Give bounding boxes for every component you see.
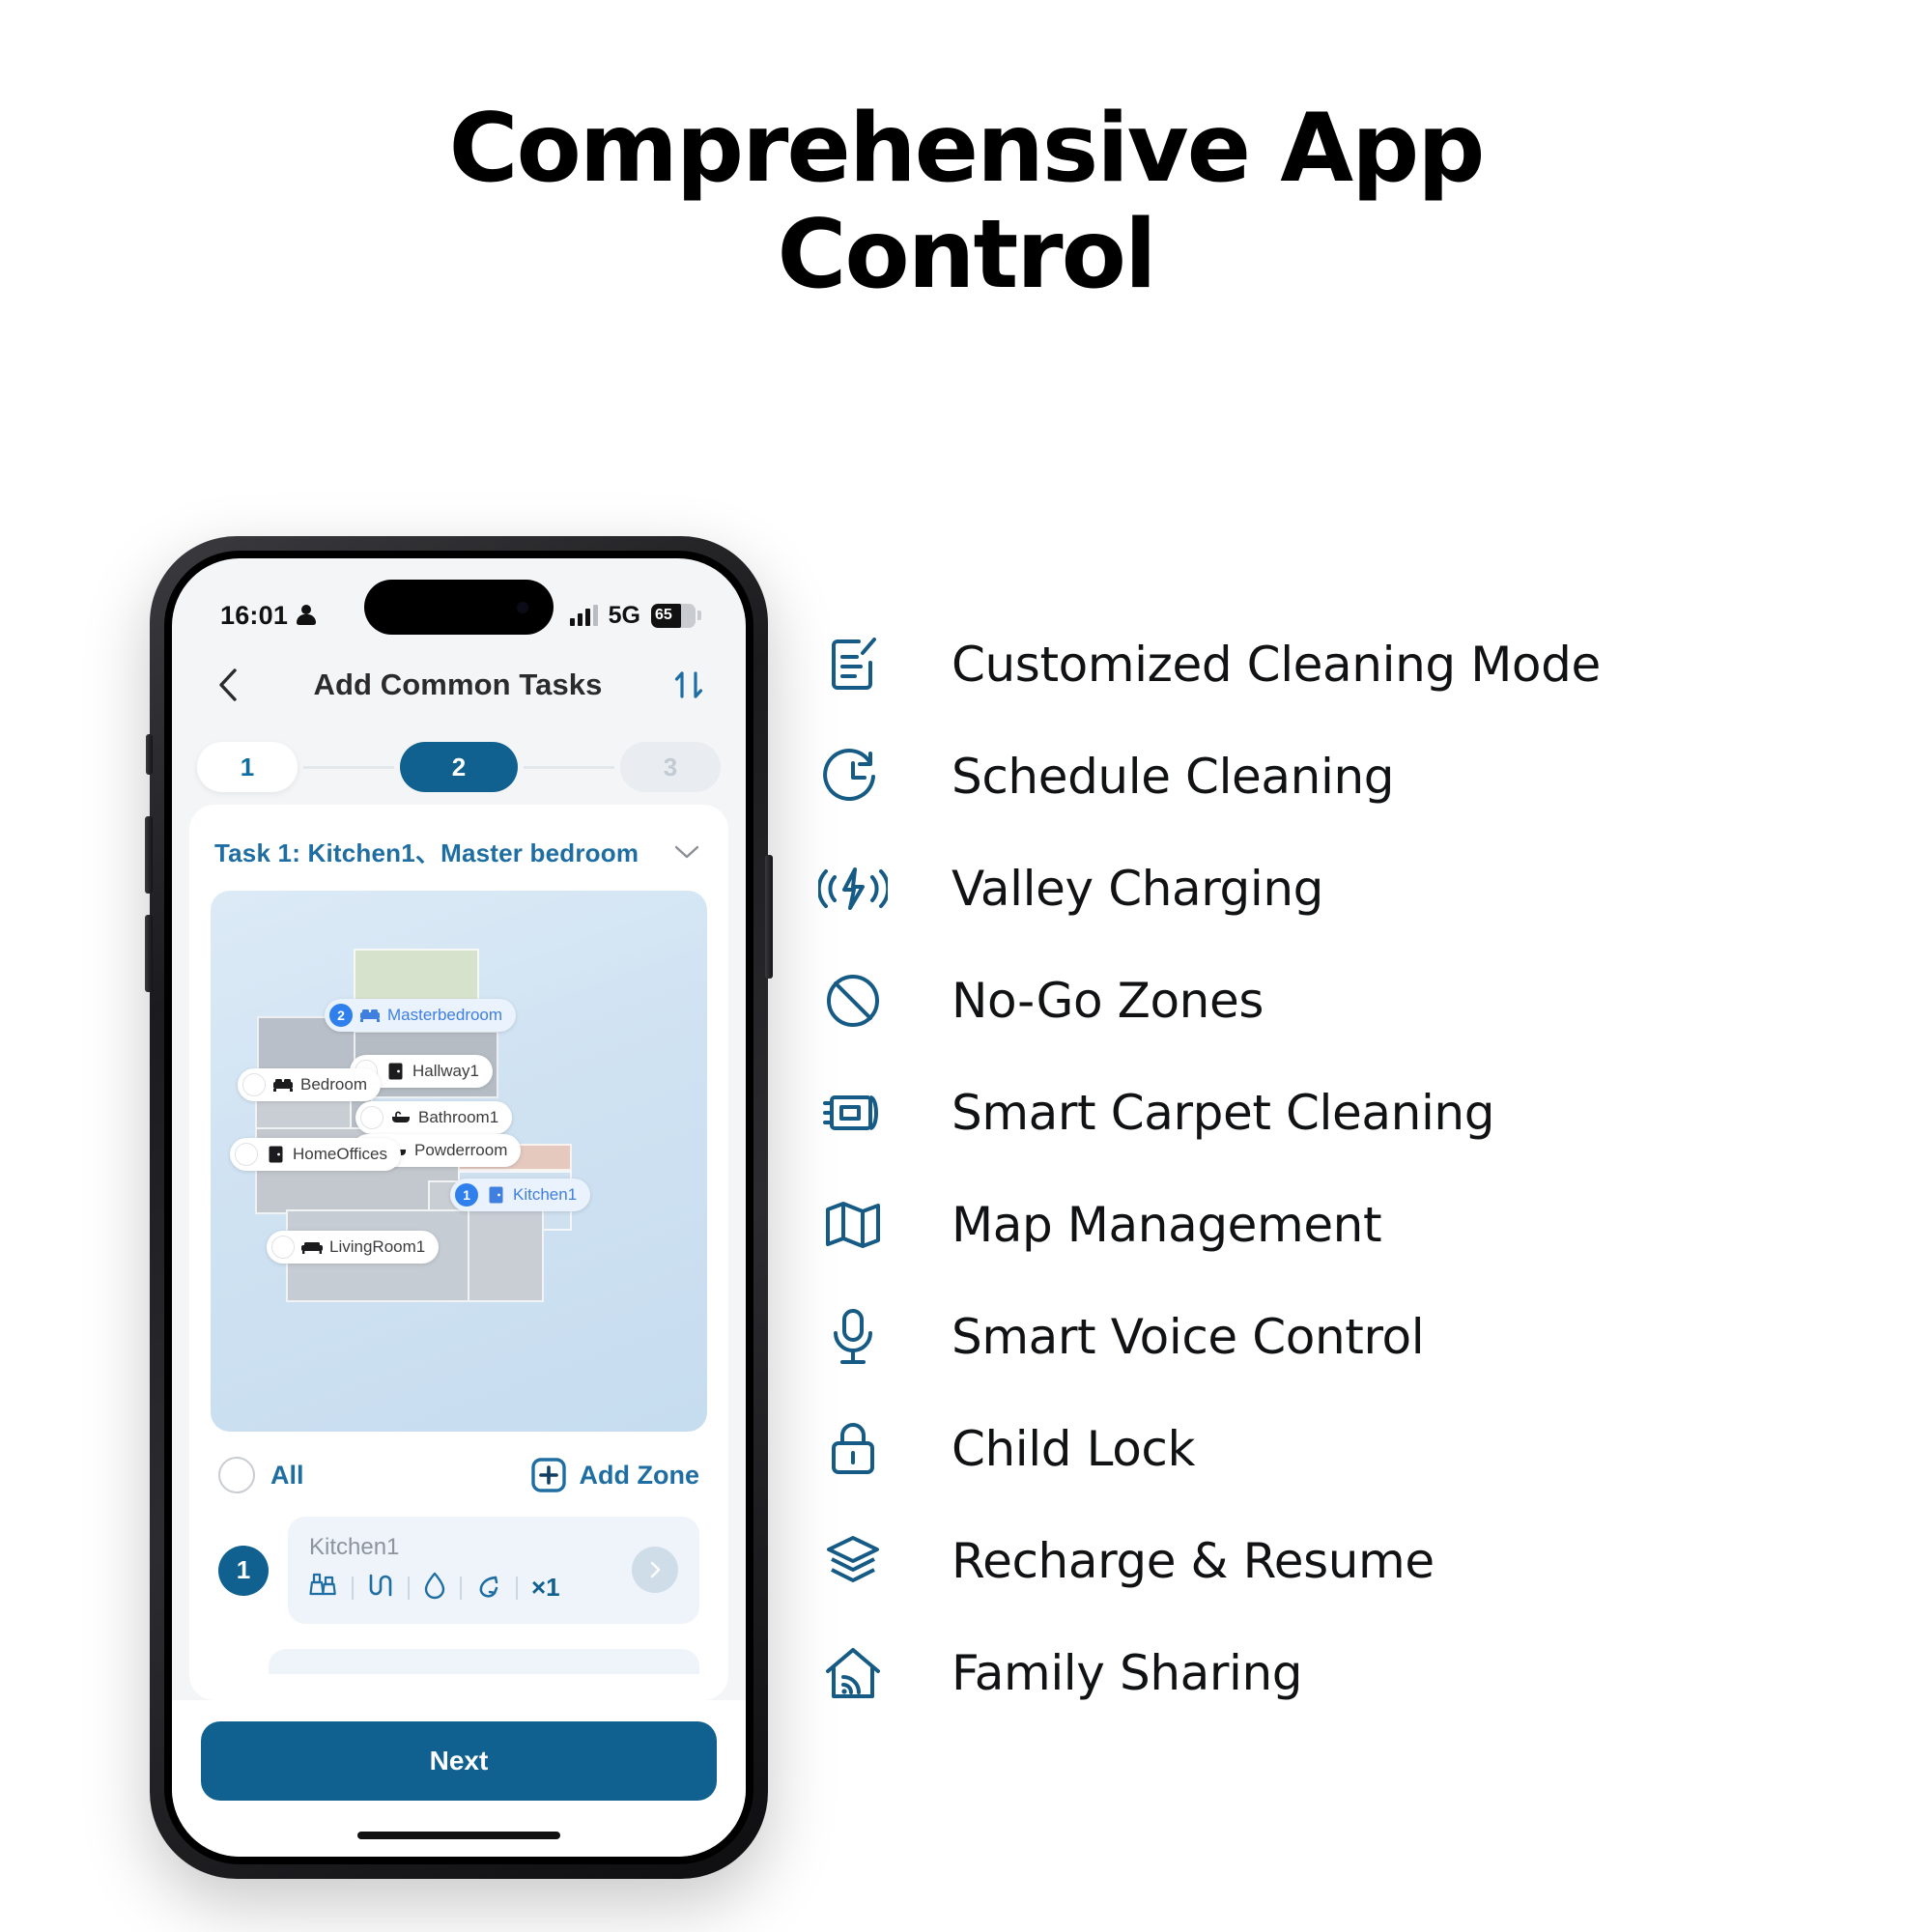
status-bar-right: 5G 65 — [570, 602, 701, 630]
carpet-icon — [816, 1086, 890, 1140]
door-icon — [485, 1185, 506, 1205]
map-checkbox-bathroom1 — [360, 1106, 384, 1129]
map-label-bathroom1[interactable]: Bathroom1 — [355, 1101, 512, 1134]
add-zone-button[interactable]: Add Zone — [531, 1458, 699, 1492]
bathtub-icon — [390, 1108, 412, 1127]
add-zone-label: Add Zone — [580, 1461, 699, 1491]
sort-updown-icon — [669, 666, 708, 704]
floor-map[interactable]: 2 Masterbedroom — [211, 891, 707, 1432]
feature-label: Family Sharing — [952, 1645, 1302, 1701]
bottom-action-bar: Next — [172, 1700, 746, 1857]
bed-icon — [272, 1075, 294, 1094]
feature-label: Map Management — [952, 1197, 1381, 1253]
map-label-text: Bathroom1 — [418, 1108, 498, 1127]
chevron-right-circle-icon — [645, 1560, 665, 1579]
app-nav-bar: Add Common Tasks — [172, 647, 746, 723]
map-fold-icon — [816, 1198, 890, 1252]
map-checkbox-livingroom1 — [271, 1236, 295, 1259]
battery-level: 65 — [651, 607, 672, 624]
front-camera — [517, 602, 528, 613]
volume-up-button[interactable] — [145, 816, 153, 894]
zone-card[interactable]: Kitchen1 — [288, 1517, 699, 1624]
zone-list: 1 Kitchen1 — [189, 1511, 728, 1624]
route-s-icon[interactable] — [367, 1572, 394, 1604]
lock-icon — [816, 1418, 890, 1480]
house-wifi-icon — [816, 1644, 890, 1702]
select-all-label: All — [270, 1461, 304, 1491]
clock-refresh-icon — [816, 746, 890, 808]
page-title: Comprehensive App Control — [0, 97, 1932, 309]
phone-screen: 16:01 5G 65 — [172, 558, 746, 1857]
map-label-text: LivingRoom1 — [329, 1237, 425, 1257]
silent-switch[interactable] — [146, 734, 153, 775]
feature-item-no-go-zones[interactable]: No-Go Zones — [816, 945, 1889, 1057]
zone-card-next-preview[interactable] — [269, 1649, 699, 1674]
task-collapse-button[interactable] — [670, 836, 703, 868]
step-indicator: 1 2 3 — [172, 730, 746, 804]
feature-label: No-Go Zones — [952, 973, 1264, 1029]
network-label: 5G — [609, 602, 640, 630]
battery-indicator: 65 — [651, 604, 701, 628]
zone-detail-button[interactable] — [632, 1547, 678, 1593]
page-title-line1: Comprehensive App — [0, 97, 1932, 203]
feature-list: Customized Cleaning Mode Schedule Cleani… — [816, 609, 1889, 1729]
sort-button[interactable] — [667, 663, 711, 707]
step-1[interactable]: 1 — [197, 742, 298, 792]
nav-title: Add Common Tasks — [249, 668, 667, 702]
sofa-icon — [301, 1237, 323, 1257]
map-label-text: Powderroom — [414, 1141, 507, 1160]
map-checkbox-bedroom — [242, 1073, 266, 1096]
document-edit-icon — [816, 634, 890, 696]
map-label-text: Bedroom — [300, 1075, 367, 1094]
zone-icon-sep — [352, 1577, 354, 1600]
step-2[interactable]: 2 — [400, 742, 518, 792]
phone-bezel: 16:01 5G 65 — [164, 551, 753, 1864]
zone-index-badge: 1 — [218, 1546, 269, 1596]
map-label-text: Kitchen1 — [513, 1185, 577, 1205]
zone-icon-sep — [408, 1577, 410, 1600]
zone-name: Kitchen1 — [309, 1534, 560, 1561]
feature-item-smart-carpet-cleaning[interactable]: Smart Carpet Cleaning — [816, 1057, 1889, 1169]
door-icon — [265, 1145, 286, 1164]
status-bar-left: 16:01 — [220, 601, 316, 631]
next-button[interactable]: Next — [201, 1721, 717, 1801]
map-label-text: HomeOffices — [293, 1145, 387, 1164]
microphone-icon — [816, 1306, 890, 1368]
status-time: 16:01 — [220, 601, 288, 631]
home-indicator[interactable] — [357, 1832, 560, 1839]
page-title-line2: Control — [0, 203, 1932, 309]
map-label-text: Masterbedroom — [387, 1006, 502, 1025]
plus-square-icon — [531, 1458, 566, 1492]
chevron-down-icon — [674, 844, 699, 860]
task-header[interactable]: Task 1: Kitchen1、Master bedroom — [189, 805, 728, 891]
phone-mockup: 16:01 5G 65 — [150, 536, 768, 1879]
map-badge-masterbedroom: 2 — [329, 1004, 353, 1027]
mop-swirl-icon[interactable] — [475, 1572, 502, 1604]
map-label-text: Hallway1 — [412, 1062, 479, 1081]
feature-label: Smart Carpet Cleaning — [952, 1085, 1494, 1141]
power-button[interactable] — [765, 855, 773, 979]
circle-unchecked-icon — [218, 1457, 255, 1493]
poster-root: Comprehensive App Control 16:01 — [0, 0, 1932, 1932]
zone-icon-sep — [460, 1577, 462, 1600]
map-label-kitchen1[interactable]: 1 Kitchen1 — [450, 1179, 590, 1211]
person-icon — [297, 605, 316, 626]
feature-item-recharge-resume[interactable]: Recharge & Resume — [816, 1505, 1889, 1617]
zone-setting-icons: ×1 — [309, 1571, 560, 1605]
feature-label: Child Lock — [952, 1421, 1195, 1477]
select-all-control[interactable]: All — [218, 1457, 304, 1493]
step-3[interactable]: 3 — [620, 742, 721, 792]
task-panel: Task 1: Kitchen1、Master bedroom — [189, 805, 728, 1700]
feature-item-child-lock[interactable]: Child Lock — [816, 1393, 1889, 1505]
battery-icon: 65 — [651, 604, 696, 628]
map-label-bedroom[interactable]: Bedroom — [238, 1068, 381, 1101]
phone-frame: 16:01 5G 65 — [150, 536, 768, 1879]
feature-label: Smart Voice Control — [952, 1309, 1424, 1365]
feature-label: Customized Cleaning Mode — [952, 637, 1601, 693]
back-button[interactable] — [207, 664, 249, 706]
water-drop-icon[interactable] — [423, 1571, 446, 1605]
feature-item-smart-voice-control[interactable]: Smart Voice Control — [816, 1281, 1889, 1393]
map-label-masterbedroom[interactable]: 2 Masterbedroom — [325, 999, 516, 1032]
step-connector-2 — [524, 766, 614, 769]
feature-item-schedule-cleaning[interactable]: Schedule Cleaning — [816, 721, 1889, 833]
volume-down-button[interactable] — [145, 915, 153, 992]
map-label-livingroom1[interactable]: LivingRoom1 — [267, 1231, 439, 1264]
feature-item-valley-charging[interactable]: Valley Charging — [816, 833, 1889, 945]
door-icon — [384, 1062, 406, 1081]
zone-icon-sep — [516, 1577, 518, 1600]
task-label: Task 1: Kitchen1、Master bedroom — [214, 834, 639, 869]
layers-icon — [816, 1532, 890, 1590]
feature-item-map-management[interactable]: Map Management — [816, 1169, 1889, 1281]
dynamic-island — [364, 580, 554, 635]
no-entry-icon — [816, 970, 890, 1032]
selection-row: All Add Zone — [189, 1432, 728, 1511]
feature-label: Schedule Cleaning — [952, 749, 1394, 805]
vacuum-mop-icon[interactable] — [309, 1572, 338, 1604]
map-checkbox-homeoffices — [235, 1143, 258, 1166]
zone-repeat-count: ×1 — [531, 1573, 560, 1603]
chevron-left-icon — [218, 668, 238, 701]
map-label-homeoffices[interactable]: HomeOffices — [230, 1138, 401, 1171]
feature-label: Recharge & Resume — [952, 1533, 1435, 1589]
bolt-waves-icon — [816, 862, 890, 916]
feature-item-family-sharing[interactable]: Family Sharing — [816, 1617, 1889, 1729]
map-badge-kitchen1: 1 — [455, 1183, 478, 1207]
feature-label: Valley Charging — [952, 861, 1323, 917]
feature-item-customized-cleaning-mode[interactable]: Customized Cleaning Mode — [816, 609, 1889, 721]
signal-bars-icon — [570, 605, 598, 626]
battery-cap — [697, 611, 701, 620]
step-connector-1 — [303, 766, 394, 769]
bed-icon — [359, 1006, 381, 1025]
zone-card-main: Kitchen1 — [309, 1534, 560, 1605]
